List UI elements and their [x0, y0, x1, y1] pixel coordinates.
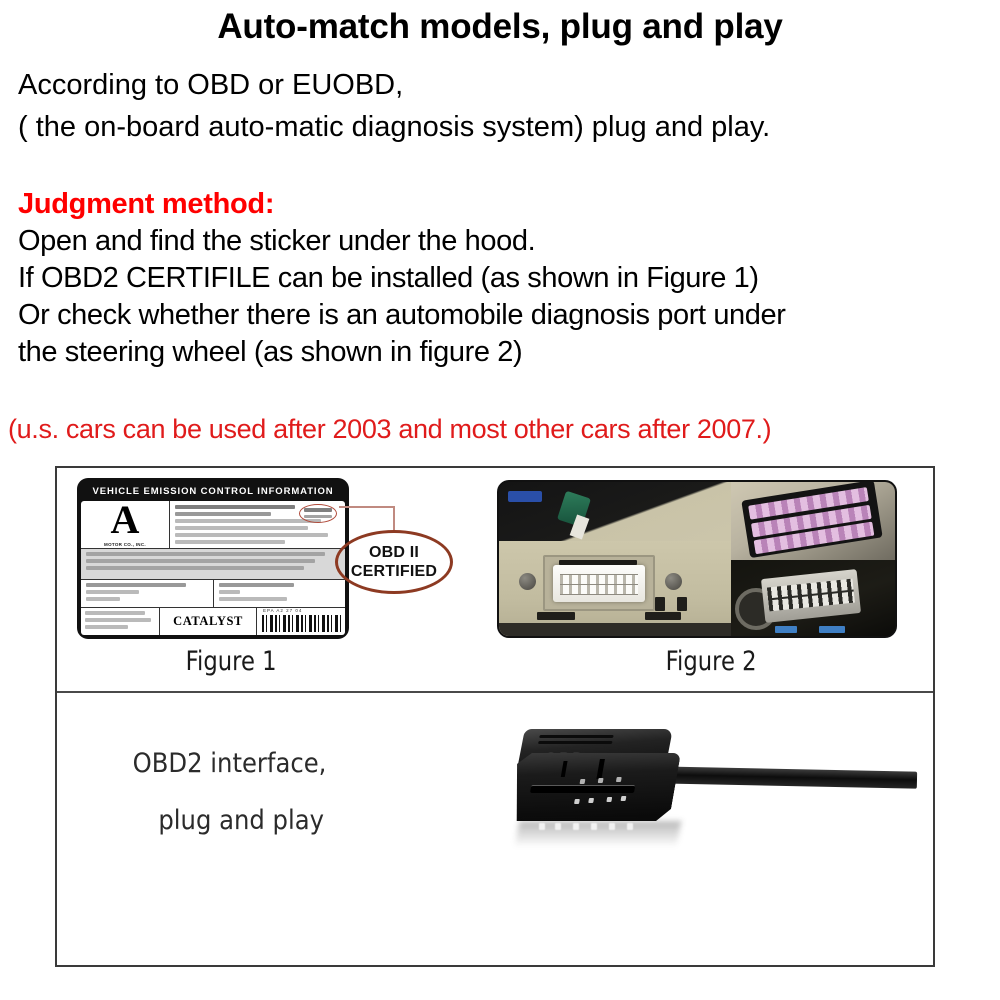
obd2-certified-callout: OBD II CERTIFIED [335, 530, 453, 594]
sticker-chip-microtext [304, 508, 332, 512]
callout-leader-vertical [393, 506, 395, 532]
dashboard-photo [499, 482, 731, 636]
sticker-microtext-line [175, 519, 321, 523]
obd2-flat-cable [657, 766, 917, 788]
pink-connector-photo [731, 482, 897, 560]
judgment-line-2: If OBD2 CERTIFILE can be installed (as s… [18, 260, 996, 297]
obd2-reflection-pin [573, 823, 579, 830]
obd2-reflection-pin [609, 823, 615, 830]
sticker-microtext-line [86, 583, 186, 587]
sticker-chip-microtext [304, 515, 332, 519]
photo-blue-badge [508, 491, 542, 502]
gray-obd-connector [761, 569, 861, 623]
sticker-microtext-line [86, 552, 325, 556]
sticker-sparkplug-cell [81, 608, 160, 635]
figure2-caption: Figure 2 [666, 646, 757, 677]
callout-line-1: OBD II [369, 543, 419, 562]
model-year-note: (u.s. cars can be used after 2003 and mo… [8, 412, 1000, 446]
obd2-caption-line-1: OBD2 interface, [81, 735, 378, 792]
sticker-microtext-line [86, 590, 139, 594]
sticker-spec-left [81, 580, 214, 607]
judgment-line-4: the steering wheel (as shown in figure 2… [18, 334, 996, 371]
dash-slot [655, 597, 665, 611]
figure1-caption: Figure 1 [186, 646, 277, 677]
intro-line-1: According to OBD or EUOBD, [18, 64, 984, 106]
dash-slot [645, 612, 681, 620]
sticker-microtext-line [175, 526, 308, 530]
sticker-microtext-line [85, 611, 145, 615]
sticker-microtext-line [86, 566, 304, 570]
obd2-pin [598, 778, 604, 783]
obd2-pin [574, 799, 580, 804]
sticker-microtext-line [85, 625, 128, 629]
callout-leader-horizontal [339, 506, 395, 508]
obd2-pin [580, 779, 586, 784]
sticker-header-label: VEHICLE EMISSION CONTROL INFORMATION [81, 482, 345, 501]
callout-line-2: CERTIFIED [351, 562, 437, 581]
sticker-grade-cell: A MOTOR CO., INC. [81, 501, 170, 548]
obd2-reflection-pin [627, 823, 633, 830]
sticker-microtext-line [85, 618, 151, 622]
sticker-grade-sublabel: MOTOR CO., INC. [104, 542, 146, 547]
dash-bolt-icon [519, 573, 536, 590]
sticker-row-specs [81, 580, 345, 608]
figure-panel: VEHICLE EMISSION CONTROL INFORMATION A M… [55, 466, 935, 967]
sticker-row-grade: A MOTOR CO., INC. [81, 501, 345, 549]
obd2-reflection-pin [539, 823, 545, 830]
sticker-microtext-line [86, 559, 315, 563]
obd2-connector-illustration: OBD [477, 705, 917, 905]
white-obd-port-connector [553, 565, 645, 602]
sticker-row-catalyst: CATALYST EPA A2 27 04 [81, 608, 345, 635]
obd2-notch [561, 761, 568, 777]
engine-bay-connector-photo [731, 560, 897, 638]
sticker-grade-letter: A [111, 502, 140, 538]
judgment-line-3: Or check whether there is an automobile … [18, 297, 996, 334]
sticker-microtext-line [86, 597, 120, 601]
sticker-body: A MOTOR CO., INC. [81, 501, 345, 635]
pink-connector-housing [741, 480, 882, 558]
sticker-microtext-line [175, 540, 285, 544]
figures-row: VEHICLE EMISSION CONTROL INFORMATION A M… [57, 468, 933, 693]
obd2-pin-slot [530, 785, 635, 793]
sticker-row-service-note [81, 549, 345, 580]
sticker-microtext-line [175, 512, 271, 516]
sticker-barcode-cell: EPA A2 27 04 [257, 608, 345, 635]
judgment-method-heading: Judgment method: [18, 186, 996, 223]
obd2-pin [621, 796, 627, 801]
obd2-interface-caption: OBD2 interface, plug and play [81, 735, 378, 849]
obd2-caption-line-2: plug and play [81, 792, 378, 849]
sticker-microtext-line [175, 505, 295, 509]
obd2-interface-row: OBD2 interface, plug and play OBD [57, 693, 933, 965]
obd2-connector-body [507, 753, 681, 821]
dash-trim-panel [499, 541, 731, 636]
obd2-pin [616, 777, 622, 782]
sticker-catalyst-cell: CATALYST [160, 608, 257, 635]
sticker-barcode-number: EPA A2 27 04 [263, 608, 302, 613]
dash-slot [537, 612, 575, 620]
obd2-reflection-pin [555, 823, 561, 830]
sticker-microtext-line [219, 583, 294, 587]
page-title: Auto-match models, plug and play [0, 6, 1000, 48]
obd2-pin [606, 797, 612, 802]
sticker-spec-text [170, 501, 345, 548]
sticker-microtext-line [219, 597, 287, 601]
barcode-icon [262, 615, 341, 632]
obd-port-pins [560, 574, 638, 595]
intro-line-2: ( the on-board auto-matic diagnosis syst… [18, 106, 984, 148]
sticker-catalyst-label: CATALYST [173, 614, 243, 629]
obd-port-recess [543, 555, 655, 611]
vehicle-emission-control-sticker: VEHICLE EMISSION CONTROL INFORMATION A M… [77, 478, 349, 639]
obd2-notch [596, 759, 605, 779]
blue-wire-clip [775, 626, 797, 633]
intro-paragraph: According to OBD or EUOBD, ( the on-boar… [18, 64, 984, 148]
judgment-method-block: Judgment method: Open and find the stick… [18, 186, 996, 371]
gray-connector-pins [767, 579, 855, 612]
dash-slot [677, 597, 687, 611]
obd2-pin [588, 798, 594, 803]
sticker-microtext-line [219, 590, 241, 594]
callout-leader-line [339, 506, 340, 507]
judgment-line-1: Open and find the sticker under the hood… [18, 223, 996, 260]
sticker-microtext-line [175, 533, 328, 537]
blue-wire-clip [819, 626, 845, 633]
sticker-spec-right [214, 580, 346, 607]
obd2-top-ridge [539, 735, 614, 738]
figure2-photo-composite [497, 480, 897, 638]
obd2-reflection-pin [591, 823, 597, 830]
sticker-obd-chip-circle [299, 504, 337, 523]
dash-bolt-icon [665, 573, 682, 590]
